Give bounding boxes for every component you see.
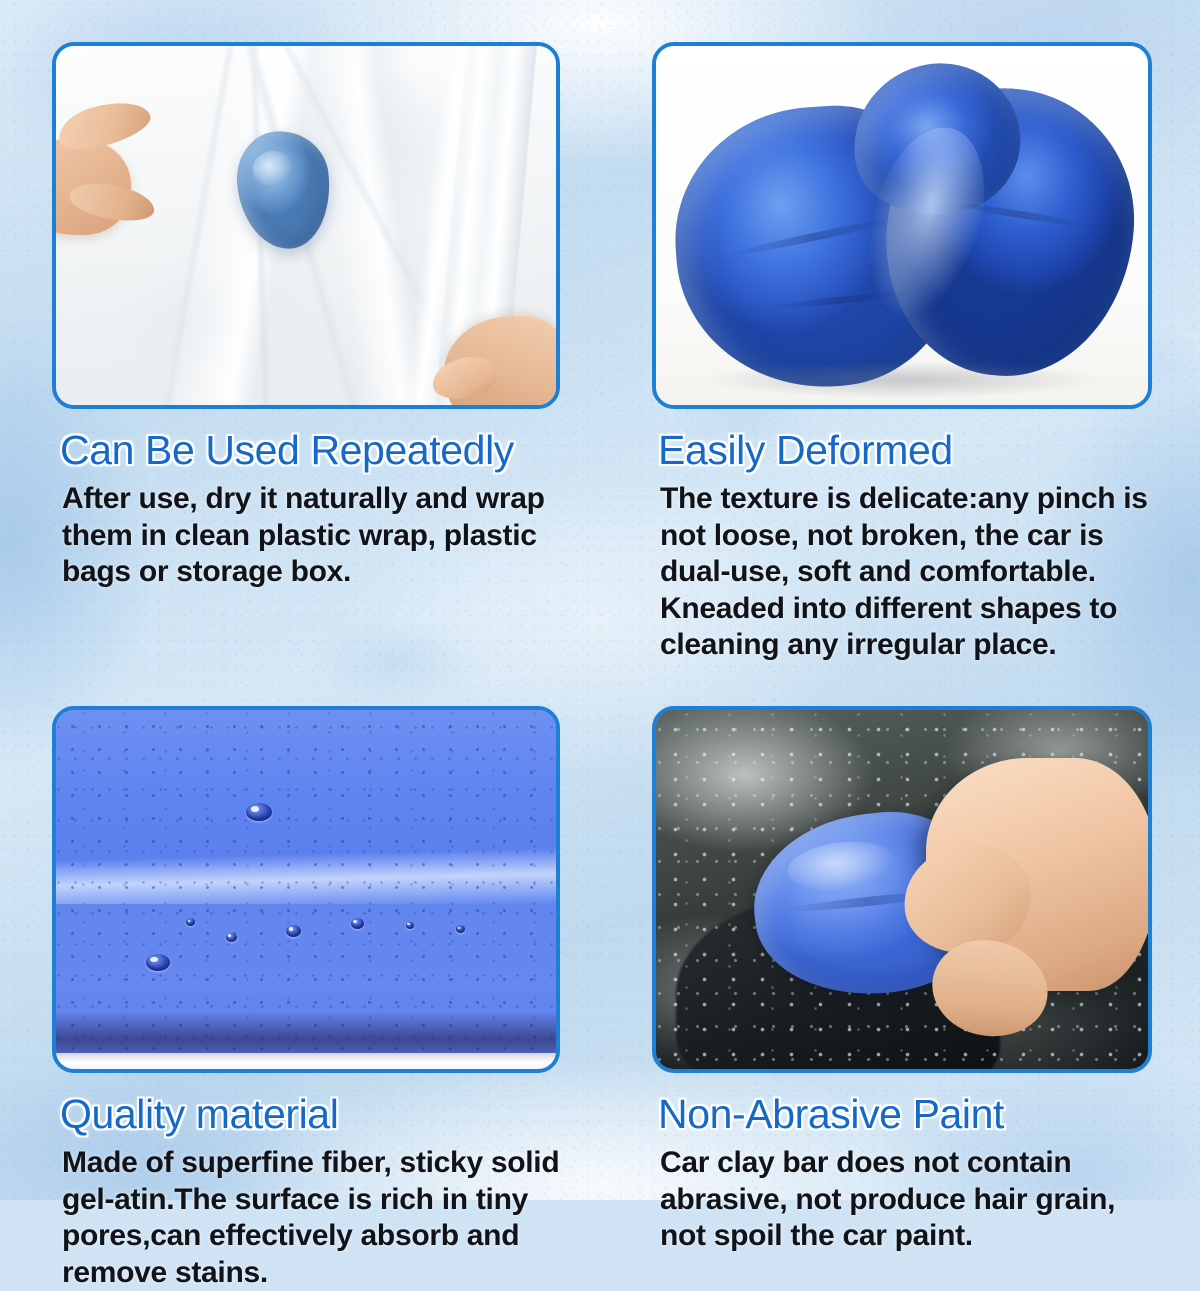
feature-photo-frame-3	[52, 706, 560, 1073]
feature-heading-3: Quality material	[52, 1093, 560, 1136]
clay-drop-shadow	[705, 362, 1099, 398]
feature-body-2: The texture is delicate:any pinch is not…	[652, 481, 1152, 664]
feature-cell-can-be-used-repeatedly: Can Be Used Repeatedly After use, dry it…	[0, 0, 600, 664]
feature-photo-frame-2	[652, 42, 1152, 409]
feature-photo-frame-1	[52, 42, 560, 409]
clay-bottom-white-edge	[56, 1053, 556, 1069]
right-hand	[426, 294, 560, 409]
clay-bubble-large-lower	[146, 954, 170, 971]
photo-kneaded-clay-mass	[656, 46, 1148, 405]
feature-cell-non-abrasive-paint: Non-Abrasive Paint Car clay bar does not…	[600, 664, 1200, 1291]
feature-cell-quality-material: Quality material Made of superfine fiber…	[0, 664, 600, 1291]
feature-heading-1: Can Be Used Repeatedly	[52, 429, 560, 472]
feature-heading-4: Non-Abrasive Paint	[652, 1093, 1152, 1136]
feature-cell-easily-deformed: Easily Deformed The texture is delicate:…	[600, 0, 1200, 664]
clay-bubble-small-2	[406, 922, 414, 929]
photo-clay-wrapped-in-plastic	[56, 46, 556, 405]
feature-heading-2: Easily Deformed	[652, 429, 1152, 472]
feature-grid: Can Be Used Repeatedly After use, dry it…	[0, 0, 1200, 1200]
feature-photo-frame-4	[652, 706, 1152, 1073]
hand-pressing-clay	[882, 739, 1152, 1055]
clay-bottom-shadow	[56, 1012, 556, 1055]
feature-body-1: After use, dry it naturally and wrap the…	[52, 481, 560, 591]
clay-bubble-mid-3	[226, 933, 237, 942]
photo-clay-surface-macro	[56, 710, 556, 1069]
feature-body-3: Made of superfine fiber, sticky solid ge…	[52, 1145, 560, 1291]
left-hand	[52, 111, 161, 261]
photo-clay-on-car-paint	[656, 710, 1148, 1069]
